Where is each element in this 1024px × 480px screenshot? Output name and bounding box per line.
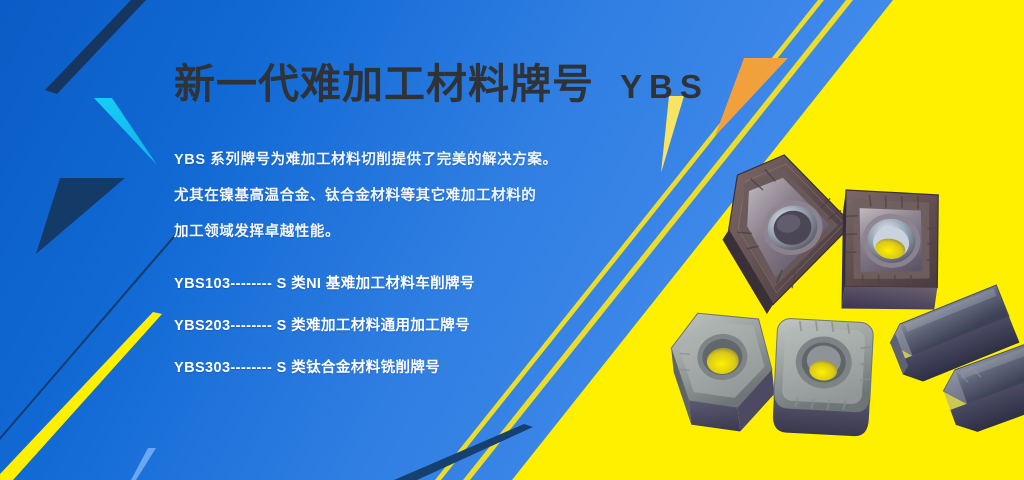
banner-content: 新一代难加工材料牌号 YBS YBS 系列牌号为难加工材料切削提供了完美的解决方… bbox=[174, 62, 694, 377]
banner-title-row: 新一代难加工材料牌号 YBS bbox=[174, 62, 694, 105]
description-line: 尤其在镍基高温合金、钛合金材料等其它难加工材料的 bbox=[174, 189, 694, 205]
square-insert-sdmt bbox=[772, 318, 874, 437]
ybs-product-banner: 新一代难加工材料牌号 YBS YBS 系列牌号为难加工材料切削提供了完美的解决方… bbox=[0, 0, 1024, 480]
description-line: 加工领域发挥卓越性能。 bbox=[174, 225, 694, 241]
rhombic-insert-cnmg bbox=[830, 182, 951, 321]
model-list: YBS103-------- S 类NI 基难加工材料车削牌号 YBS203--… bbox=[174, 277, 694, 377]
page-title: 新一代难加工材料牌号 bbox=[174, 64, 594, 105]
list-item: YBS203-------- S 类难加工材料通用加工牌号 bbox=[174, 319, 694, 335]
list-item: YBS303-------- S 类钛合金材料铣削牌号 bbox=[174, 361, 694, 377]
description-line: YBS 系列牌号为难加工材料切削提供了完美的解决方案。 bbox=[174, 153, 694, 169]
brand-name: YBS bbox=[620, 70, 709, 103]
description-block: YBS 系列牌号为难加工材料切削提供了完美的解决方案。 尤其在镍基高温合金、钛合… bbox=[174, 153, 694, 241]
list-item: YBS103-------- S 类NI 基难加工材料车削牌号 bbox=[174, 277, 694, 293]
